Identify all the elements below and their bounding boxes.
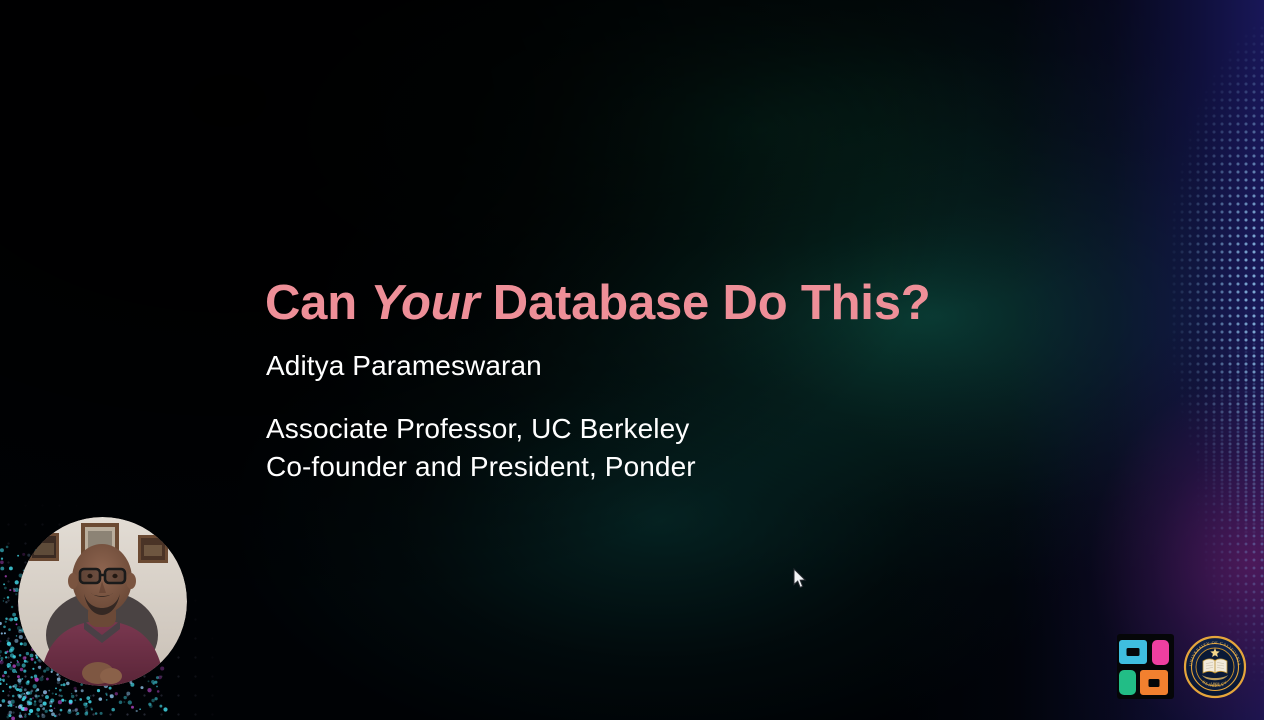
background-vignette bbox=[0, 0, 1264, 720]
slide-title-part1: Can bbox=[265, 276, 370, 330]
speaker-video-bubble[interactable] bbox=[18, 517, 187, 686]
ponder-logo-magenta-block bbox=[1152, 640, 1169, 665]
logo-bar: UNIVERSITY OF CALIFORNIA BERKELEY 1868 bbox=[1117, 634, 1247, 699]
speaker-affiliation: Associate Professor, UC Berkeley Co-foun… bbox=[266, 410, 696, 486]
ponder-logo-green-block bbox=[1119, 670, 1136, 695]
speaker-name: Aditya Parameswaran bbox=[266, 350, 542, 382]
slide-title: Can Your Database Do This? bbox=[265, 276, 931, 331]
affiliation-line-2: Co-founder and President, Ponder bbox=[266, 448, 696, 486]
background-glow-teal-lower bbox=[0, 0, 1264, 720]
background-glow-teal-upper bbox=[0, 0, 1264, 720]
wall-frame-left bbox=[29, 533, 59, 561]
background-glow-blue-right bbox=[0, 0, 1264, 720]
mouse-pointer-icon bbox=[793, 568, 807, 589]
wall-frame-right bbox=[138, 535, 168, 563]
slide-title-emphasis: Your bbox=[370, 276, 479, 330]
affiliation-line-1: Associate Professor, UC Berkeley bbox=[266, 410, 696, 448]
halftone-dot-field-right bbox=[1074, 0, 1264, 720]
background-glow-teal-primary bbox=[0, 0, 1264, 720]
svg-text:1868: 1868 bbox=[1210, 681, 1220, 686]
ponder-logo bbox=[1117, 634, 1174, 699]
slide-title-part2: Database Do This? bbox=[479, 276, 930, 330]
background-glow-magenta-corner bbox=[0, 0, 1264, 720]
uc-berkeley-seal: UNIVERSITY OF CALIFORNIA BERKELEY 1868 bbox=[1183, 635, 1247, 699]
presentation-slide: Can Your Database Do This? Aditya Parame… bbox=[0, 0, 1264, 720]
speaker-video-frame bbox=[18, 517, 187, 686]
